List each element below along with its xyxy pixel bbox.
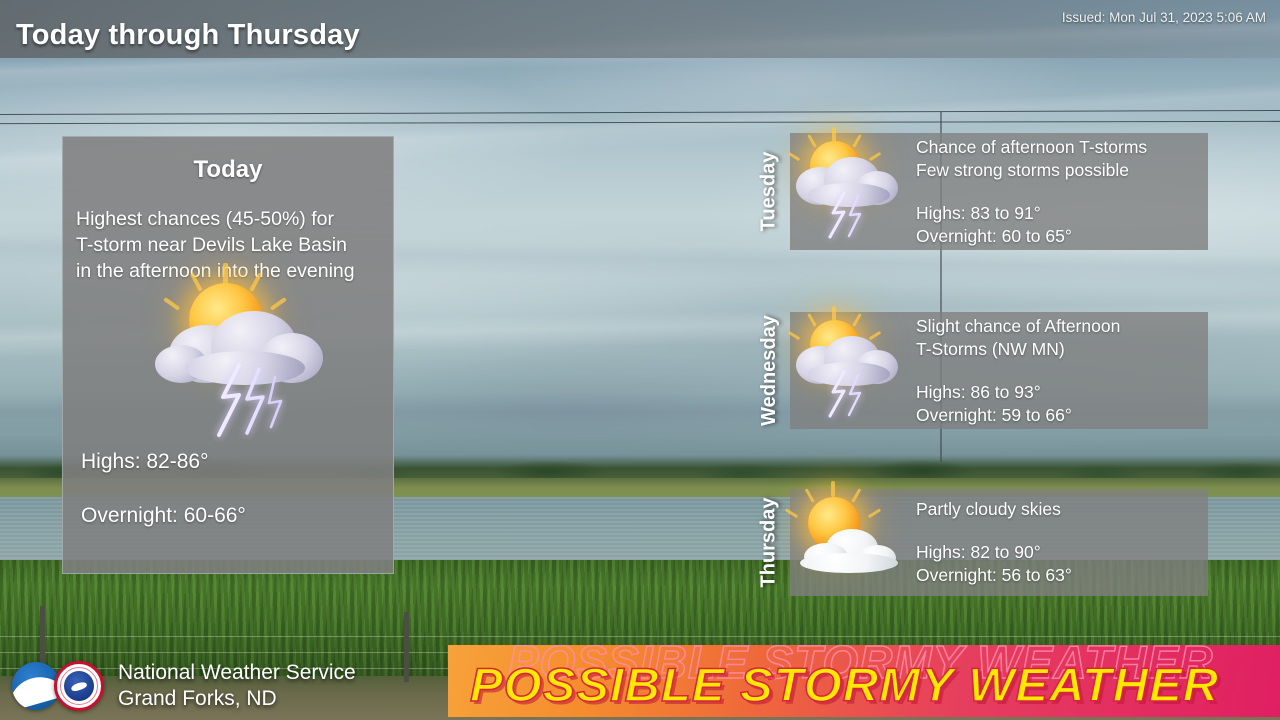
fence-post <box>404 612 409 682</box>
lightning-bolt-icon <box>826 191 882 239</box>
thunderstorm-sun-icon <box>790 133 910 250</box>
day-label-text: Thursday <box>758 497 781 587</box>
forecast-highs: Highs: 86 to 93° <box>916 381 1208 404</box>
page-title: Today through Thursday <box>16 19 360 52</box>
thunderstorm-sun-icon <box>790 312 910 429</box>
forecast-text-thursday: Partly cloudy skies Highs: 82 to 90° Ove… <box>910 498 1208 587</box>
today-temperatures: Highs: 82-86° Overnight: 60-66° <box>81 435 246 543</box>
forecast-card-tuesday: Chance of afternoon T-storms Few strong … <box>790 133 1208 250</box>
lightning-bolt-icon <box>213 363 299 437</box>
forecast-text-wednesday: Slight chance of Afternoon T-Storms (NW … <box>910 315 1208 427</box>
forecast-highs: Highs: 82 to 90° <box>916 541 1208 564</box>
forecast-desc-line-1: Slight chance of Afternoon <box>916 315 1208 338</box>
fence-wire <box>0 636 1280 637</box>
forecast-desc-line-2: Few strong storms possible <box>916 159 1208 182</box>
forecast-card-thursday: Partly cloudy skies Highs: 82 to 90° Ove… <box>790 489 1208 596</box>
today-highs: Highs: 82-86° <box>81 435 246 489</box>
today-description: Highest chances (45-50%) for T-storm nea… <box>76 206 393 284</box>
today-overnight: Overnight: 60-66° <box>81 489 246 543</box>
lightning-bolt-icon <box>826 370 882 418</box>
day-row-thursday: Thursday Partly cloudy skies <box>752 489 1208 596</box>
today-panel-title: Today <box>63 156 393 184</box>
nws-seal-icon <box>54 661 104 711</box>
today-description-line-2: T-storm near Devils Lake Basin <box>76 232 393 258</box>
today-description-line-1: Highest chances (45-50%) for <box>76 206 393 232</box>
weather-forecast-graphic: Today through Thursday Issued: Mon Jul 3… <box>0 0 1280 720</box>
forecast-text-tuesday: Chance of afternoon T-storms Few strong … <box>910 136 1208 248</box>
forecast-desc-line-2: T-Storms (NW MN) <box>916 338 1208 361</box>
day-row-tuesday: Tuesday <box>752 133 1208 250</box>
day-row-wednesday: Wednesday <box>752 312 1208 429</box>
noaa-logo-icon <box>12 662 60 710</box>
agency-identity: National Weather Service Grand Forks, ND <box>12 660 356 712</box>
forecast-overnight: Overnight: 56 to 63° <box>916 564 1208 587</box>
forecast-desc-line-1: Chance of afternoon T-storms <box>916 136 1208 159</box>
agency-office: Grand Forks, ND <box>118 686 356 712</box>
today-panel: Today Highest chances (45-50%) for T-sto… <box>62 136 394 574</box>
day-label-text: Tuesday <box>758 152 781 232</box>
ticker-message: POSSIBLE STORMY WEATHER <box>470 657 1219 712</box>
forecast-overnight: Overnight: 60 to 65° <box>916 225 1208 248</box>
day-label-text: Wednesday <box>758 315 781 426</box>
day-label-tuesday: Tuesday <box>752 133 786 250</box>
forecast-desc-line-1: Partly cloudy skies <box>916 498 1208 521</box>
partly-cloudy-icon <box>790 489 910 596</box>
issued-timestamp: Issued: Mon Jul 31, 2023 5:06 AM <box>1062 10 1266 25</box>
ticker-banner: POSSIBLE STORMY WEATHER POSSIBLE STORMY … <box>448 645 1280 717</box>
forecast-highs: Highs: 83 to 91° <box>916 202 1208 225</box>
thunderstorm-sun-icon <box>155 277 335 437</box>
forecast-card-wednesday: Slight chance of Afternoon T-Storms (NW … <box>790 312 1208 429</box>
agency-text: National Weather Service Grand Forks, ND <box>118 660 356 712</box>
agency-name: National Weather Service <box>118 660 356 686</box>
day-label-wednesday: Wednesday <box>752 312 786 429</box>
forecast-overnight: Overnight: 59 to 66° <box>916 404 1208 427</box>
day-label-thursday: Thursday <box>752 489 786 596</box>
